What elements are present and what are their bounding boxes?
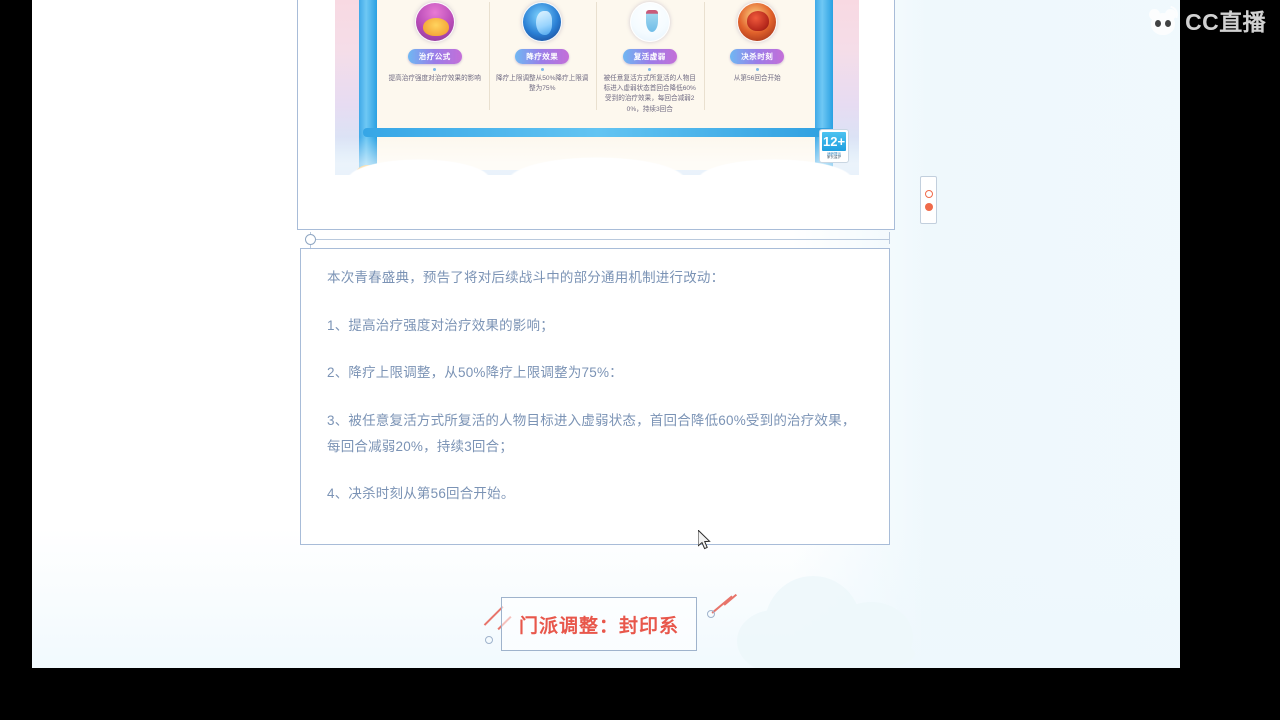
- healing-reduction-icon: [522, 2, 562, 42]
- selection-handle[interactable]: [305, 234, 316, 245]
- connector-line-horizontal: [310, 239, 890, 240]
- slide-nav-dot-hollow[interactable]: [925, 190, 933, 198]
- feature-description: 降疗上限调整从50%降疗上限调整为75%: [495, 74, 589, 94]
- announcement-text-box[interactable]: 本次青春盛典，预告了将对后续战斗中的部分通用机制进行改动： 1、提高治疗强度对治…: [300, 248, 890, 545]
- feature-card-healing-reduction: 降疗效果 降疗上限调整从50%降疗上限调整为75%: [489, 0, 597, 122]
- age-rating-footnote: 家长监护: [822, 156, 846, 160]
- feature-card-final-kill: 决杀时刻 从第56回合开始: [704, 0, 812, 122]
- promo-image-frame[interactable]: 治疗公式 提高治疗强度对治疗效果的影响 降疗效果 降疗上限调整从50%降疗上限调…: [297, 0, 895, 230]
- section-title-text: 门派调整：封印系: [519, 611, 679, 638]
- announcement-bullet-1: 1、提高治疗强度对治疗效果的影响；: [327, 313, 863, 339]
- panda-icon: [1149, 8, 1179, 36]
- healing-formula-icon: [415, 2, 455, 42]
- promo-image[interactable]: 治疗公式 提高治疗强度对治疗效果的影响 降疗效果 降疗上限调整从50%降疗上限调…: [335, 0, 859, 175]
- announcement-intro: 本次青春盛典，预告了将对后续战斗中的部分通用机制进行改动：: [327, 265, 863, 291]
- feature-description: 从第56回合开始: [734, 74, 781, 84]
- slide-nav-control[interactable]: [920, 176, 937, 224]
- section-title-box[interactable]: 门派调整：封印系: [501, 597, 697, 651]
- feature-row: 治疗公式 提高治疗强度对治疗效果的影响 降疗效果 降疗上限调整从50%降疗上限调…: [381, 0, 811, 122]
- final-kill-icon: [737, 2, 777, 42]
- feature-label: 治疗公式: [408, 49, 462, 64]
- screen-stage: 治疗公式 提高治疗强度对治疗效果的影响 降疗效果 降疗上限调整从50%降疗上限调…: [0, 0, 1280, 720]
- decorative-slash-right: [692, 592, 742, 632]
- announcement-bullet-2: 2、降疗上限调整，从50%降疗上限调整为75%：: [327, 360, 863, 386]
- announcement-bullet-4: 4、决杀时刻从第56回合开始。: [327, 481, 863, 507]
- slide-nav-dot-solid[interactable]: [925, 203, 933, 211]
- cloud-decoration: [737, 558, 922, 666]
- age-rating-value: 12+: [822, 132, 846, 151]
- announcement-bullet-3: 3、被任意复活方式所复活的人物目标进入虚弱状态，首回合降低60%受到的治疗效果，…: [327, 408, 863, 459]
- feature-label: 降疗效果: [515, 49, 569, 64]
- age-rating-badge: 12+ 适龄提示 家长监护: [819, 129, 849, 163]
- connector-line-vertical-right: [889, 232, 890, 244]
- revive-weakness-icon: [630, 2, 670, 42]
- slide-page-canvas: 治疗公式 提高治疗强度对治疗效果的影响 降疗效果 降疗上限调整从50%降疗上限调…: [32, 0, 1180, 668]
- cc-live-brand-text: CC直播: [1185, 11, 1266, 34]
- feature-card-revive-weakness: 复活虚弱 被任意复活方式所复活的人物目标进入虚弱状态首回合降低60%受到的治疗效…: [596, 0, 704, 122]
- age-rating-number: 12: [823, 135, 837, 148]
- feature-bullet-dot: [433, 68, 436, 71]
- feature-bullet-dot: [648, 68, 651, 71]
- cc-live-watermark: CC直播: [1149, 8, 1266, 36]
- feature-description: 提高治疗强度对治疗效果的影响: [389, 74, 481, 84]
- promo-cloud-foreground: [335, 137, 859, 175]
- feature-description: 被任意复活方式所复活的人物目标进入虚弱状态首回合降低60%受到的治疗效果，每回合…: [603, 74, 697, 115]
- feature-bullet-dot: [541, 68, 544, 71]
- feature-label: 复活虚弱: [623, 49, 677, 64]
- feature-label: 决杀时刻: [730, 49, 784, 64]
- age-rating-plus: +: [837, 135, 845, 148]
- scroll-bottom-bar: [363, 128, 833, 137]
- feature-bullet-dot: [756, 68, 759, 71]
- feature-card-healing-formula: 治疗公式 提高治疗强度对治疗效果的影响: [381, 0, 489, 122]
